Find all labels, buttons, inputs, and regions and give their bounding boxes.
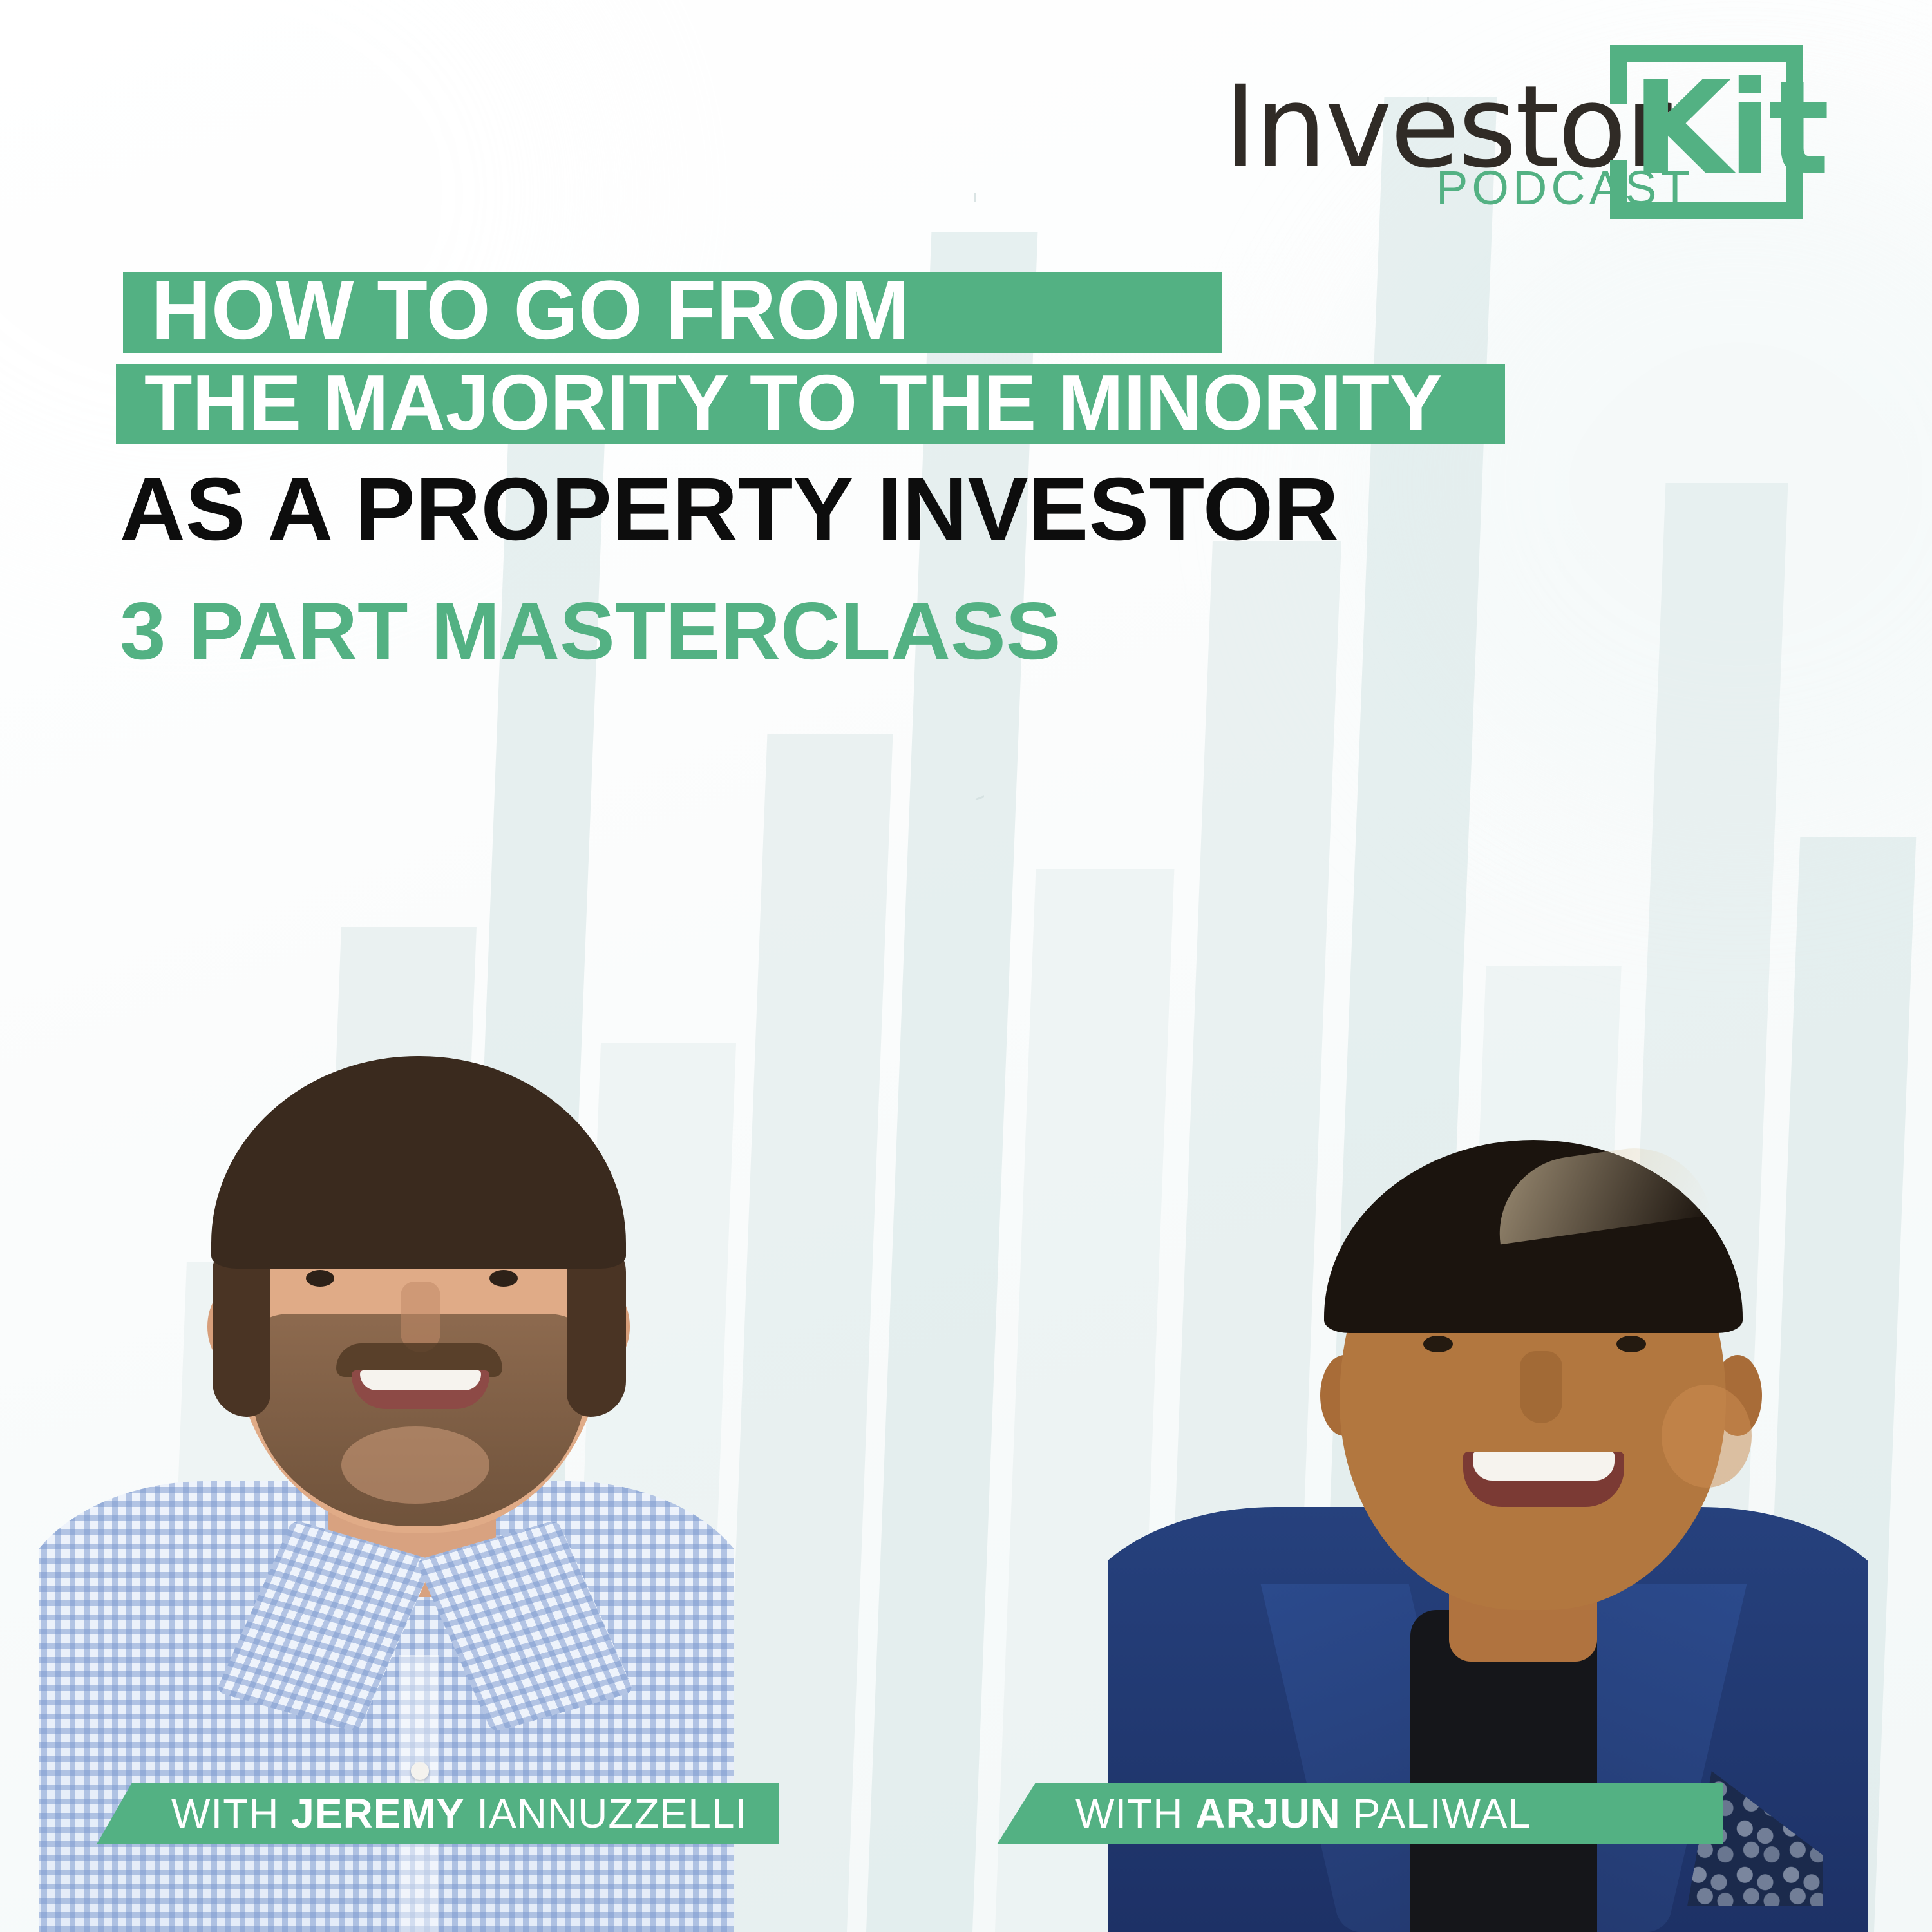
- title-line-2: THE MAJORITY TO THE MINORITY: [144, 363, 1442, 443]
- arjun-mouth: [1463, 1452, 1624, 1507]
- jeremy-mouth: [352, 1370, 489, 1409]
- presenter-banner-arjun-text: WITH ARJUN PALIWAL: [997, 1783, 1531, 1844]
- jeremy-nose: [401, 1282, 440, 1352]
- arjun-with-label: WITH: [1075, 1790, 1195, 1837]
- title-line-3: AS A PROPERTY INVESTOR: [120, 461, 1339, 558]
- arjun-teeth: [1473, 1452, 1615, 1481]
- background-bar-5: [721, 734, 893, 1932]
- arjun-first-name: ARJUN: [1195, 1790, 1340, 1837]
- logo-kit-text: Kit: [1632, 64, 1826, 193]
- arjun-eye-left: [1423, 1336, 1453, 1352]
- jeremy-chin-highlight: [341, 1426, 489, 1504]
- kit-bracket-left-top-stub: [1610, 45, 1627, 104]
- jeremy-eye-left: [306, 1270, 334, 1287]
- podcast-cover-art: Investor PODCAST Kit HOW TO GO FROM THE …: [0, 0, 1932, 1932]
- jeremy-shirt-button: [411, 1762, 429, 1780]
- jeremy-with-label: WITH: [171, 1790, 291, 1837]
- presenter-banner-jeremy-text: WITH JEREMY IANNUZZELLI: [97, 1783, 747, 1844]
- arjun-last-name: PALIWAL: [1341, 1790, 1531, 1837]
- jeremy-eye-right: [489, 1270, 518, 1287]
- arjun-cheek-highlight: [1662, 1385, 1752, 1488]
- presenter-banner-arjun: WITH ARJUN PALIWAL: [997, 1783, 1723, 1844]
- presenter-banner-jeremy: WITH JEREMY IANNUZZELLI: [97, 1783, 779, 1844]
- title-line-2-band: THE MAJORITY TO THE MINORITY: [116, 364, 1505, 444]
- brand-logo: Investor PODCAST Kit: [1224, 52, 1868, 219]
- jeremy-teeth: [360, 1370, 481, 1390]
- kit-bracket-bottom-edge: [1610, 202, 1803, 219]
- jeremy-last-name: IANNUZZELLI: [464, 1790, 747, 1837]
- jeremy-hair: [211, 1056, 626, 1269]
- logo-kit-bracket-icon: Kit: [1610, 45, 1803, 219]
- jeremy-first-name: JEREMY: [291, 1790, 464, 1837]
- kit-bracket-left-bottom-stub: [1610, 160, 1627, 219]
- presenter-photo-arjun: [1108, 927, 1868, 1932]
- title-line-1-band: HOW TO GO FROM: [123, 272, 1222, 353]
- title-line-1: HOW TO GO FROM: [151, 270, 909, 350]
- title-line-4: 3 PART MASTERCLASS: [120, 586, 1061, 676]
- arjun-eye-right: [1616, 1336, 1646, 1352]
- arjun-nose: [1520, 1351, 1562, 1423]
